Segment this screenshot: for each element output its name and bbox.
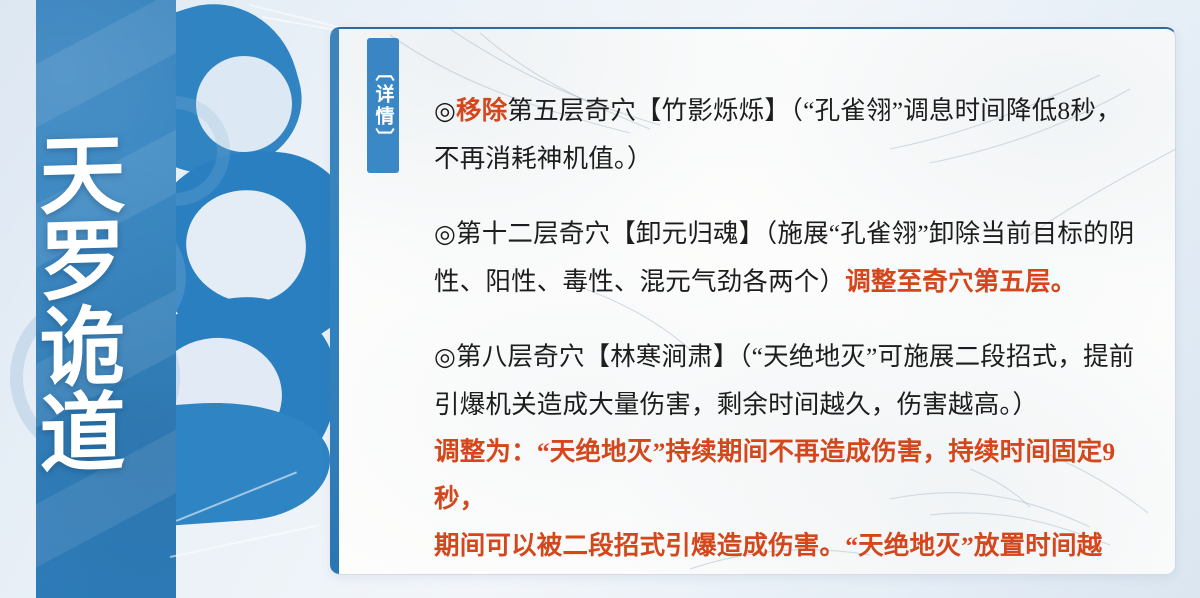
bullet-marker-3: ◎: [434, 344, 456, 371]
detail-entry-3-adjust-line-2: 期间可以被二段招式引爆造成伤害。“天绝地灭”放置时间越久，: [434, 522, 1146, 575]
cloud-cutout-1: [196, 56, 292, 152]
detail-entry-3: ◎第八层奇穴【林寒涧肃】（“天绝地灭”可施展二段招式，提前 引爆机关造成大量伤害…: [434, 333, 1146, 575]
bullet-marker-2: ◎: [434, 221, 456, 248]
page-root: 天罗诡道 〔详情〕: [0, 0, 1200, 598]
cloud-cutout-2: [177, 180, 315, 311]
detail-entry-1-action: 移除: [456, 96, 507, 125]
detail-entry-1-line-2: 不再消耗神机值。）: [434, 135, 1146, 182]
details-content: ◎移除第五层奇穴【竹影烁烁】（“孔雀翎”调息时间降低8秒， 不再消耗神机值。） …: [434, 87, 1146, 575]
detail-entry-3-adjust-line-1: “天绝地灭”持续期间不再造成伤害，持续时间固定9秒，: [434, 437, 1115, 513]
tab-details[interactable]: 〔详情〕: [367, 38, 399, 173]
detail-entry-1-line-1: ◎移除第五层奇穴【竹影烁烁】（“孔雀翎”调息时间降低8秒，: [434, 87, 1146, 135]
detail-entry-2-rest: 性、阳性、毒性、混元气劲各两个）: [434, 267, 845, 296]
detail-entry-1: ◎移除第五层奇穴【竹影烁烁】（“孔雀翎”调息时间降低8秒， 不再消耗神机值。）: [434, 87, 1146, 182]
hairline-3: [176, 471, 297, 521]
detail-entry-2-head: 第十二层奇穴【卸元归魂】（施展“孔雀翎”卸除当前目标的阴: [456, 219, 1135, 248]
banner-title-text: 天罗诡道: [0, 24, 140, 580]
hairline-4: [170, 525, 317, 558]
bullet-marker-1: ◎: [434, 98, 456, 125]
detail-entry-3-head: 第八层奇穴【林寒涧肃】（“天绝地灭”可施展二段招式，提前: [456, 342, 1135, 371]
detail-entry-3-adjust-1: 调整为：“天绝地灭”持续期间不再造成伤害，持续时间固定9秒，: [434, 428, 1146, 522]
detail-entry-2: ◎第十二层奇穴【卸元归魂】（施展“孔雀翎”卸除当前目标的阴 性、阳性、毒性、混元…: [434, 210, 1146, 305]
detail-entry-3-line-2: 引爆机关造成大量伤害，剩余时间越久，伤害越高。）: [434, 381, 1146, 428]
details-card: 〔详情〕 ◎移除第五层奇穴【竹影烁烁】（“孔雀翎”调息时间降低8秒， 不再消耗神…: [330, 27, 1176, 575]
detail-entry-2-line-2: 性、阳性、毒性、混元气劲各两个）调整至奇穴第五层。: [434, 258, 1146, 305]
detail-entry-1-rest: 第五层奇穴【竹影烁烁】（“孔雀翎”调息时间降低8秒，: [507, 96, 1121, 125]
detail-entry-2-line-1: ◎第十二层奇穴【卸元归魂】（施展“孔雀翎”卸除当前目标的阴: [434, 210, 1146, 258]
detail-entry-3-adjust-label: 调整为：: [434, 437, 537, 466]
detail-entry-3-line-1: ◎第八层奇穴【林寒涧肃】（“天绝地灭”可施展二段招式，提前: [434, 333, 1146, 381]
detail-entry-2-highlight: 调整至奇穴第五层。: [845, 267, 1076, 296]
tab-details-label: 〔详情〕: [374, 62, 393, 150]
